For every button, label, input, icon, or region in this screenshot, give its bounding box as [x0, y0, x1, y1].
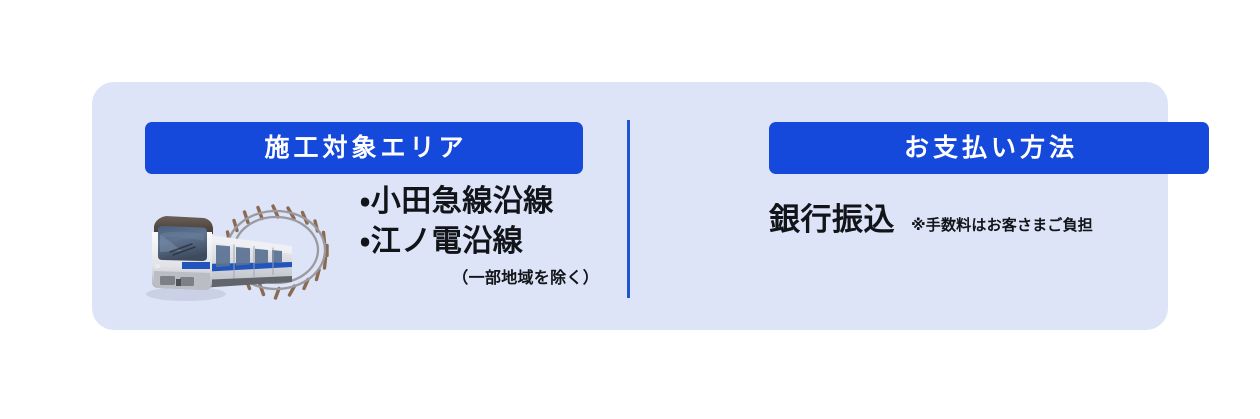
construction-area-heading-label: 施工対象エリア: [260, 136, 467, 161]
payment-method-heading-label: お支払い方法: [900, 136, 1078, 161]
payment-method-value: 銀行振込: [769, 204, 895, 235]
payment-method-column: お支払い方法 銀行振込 ※手数料はお客さまご負担: [677, 82, 1168, 330]
payment-method-heading-pill: お支払い方法: [769, 122, 1209, 174]
payment-method-body: 銀行振込 ※手数料はお客さまご負担: [769, 204, 1093, 235]
list-item: ・江ノ電沿線: [360, 222, 605, 262]
service-area-exclusion-note: （一部地域を除く）: [360, 264, 605, 288]
list-item: ・小田急線沿線: [360, 182, 605, 222]
screenshot-stage: 施工対象エリア: [0, 0, 1260, 419]
payment-fee-note: ※手数料はお客さまご負担: [911, 218, 1093, 233]
train-illustration: [142, 194, 354, 316]
service-info-panel: 施工対象エリア: [92, 82, 1168, 330]
service-area-list: ・小田急線沿線 ・江ノ電沿線 （一部地域を除く）: [360, 182, 605, 288]
construction-area-body: ・小田急線沿線 ・江ノ電沿線 （一部地域を除く）: [92, 182, 627, 317]
column-divider: [627, 120, 630, 298]
train-cars: [200, 234, 292, 288]
construction-area-heading-pill: 施工対象エリア: [145, 122, 583, 174]
construction-area-column: 施工対象エリア: [92, 82, 627, 330]
